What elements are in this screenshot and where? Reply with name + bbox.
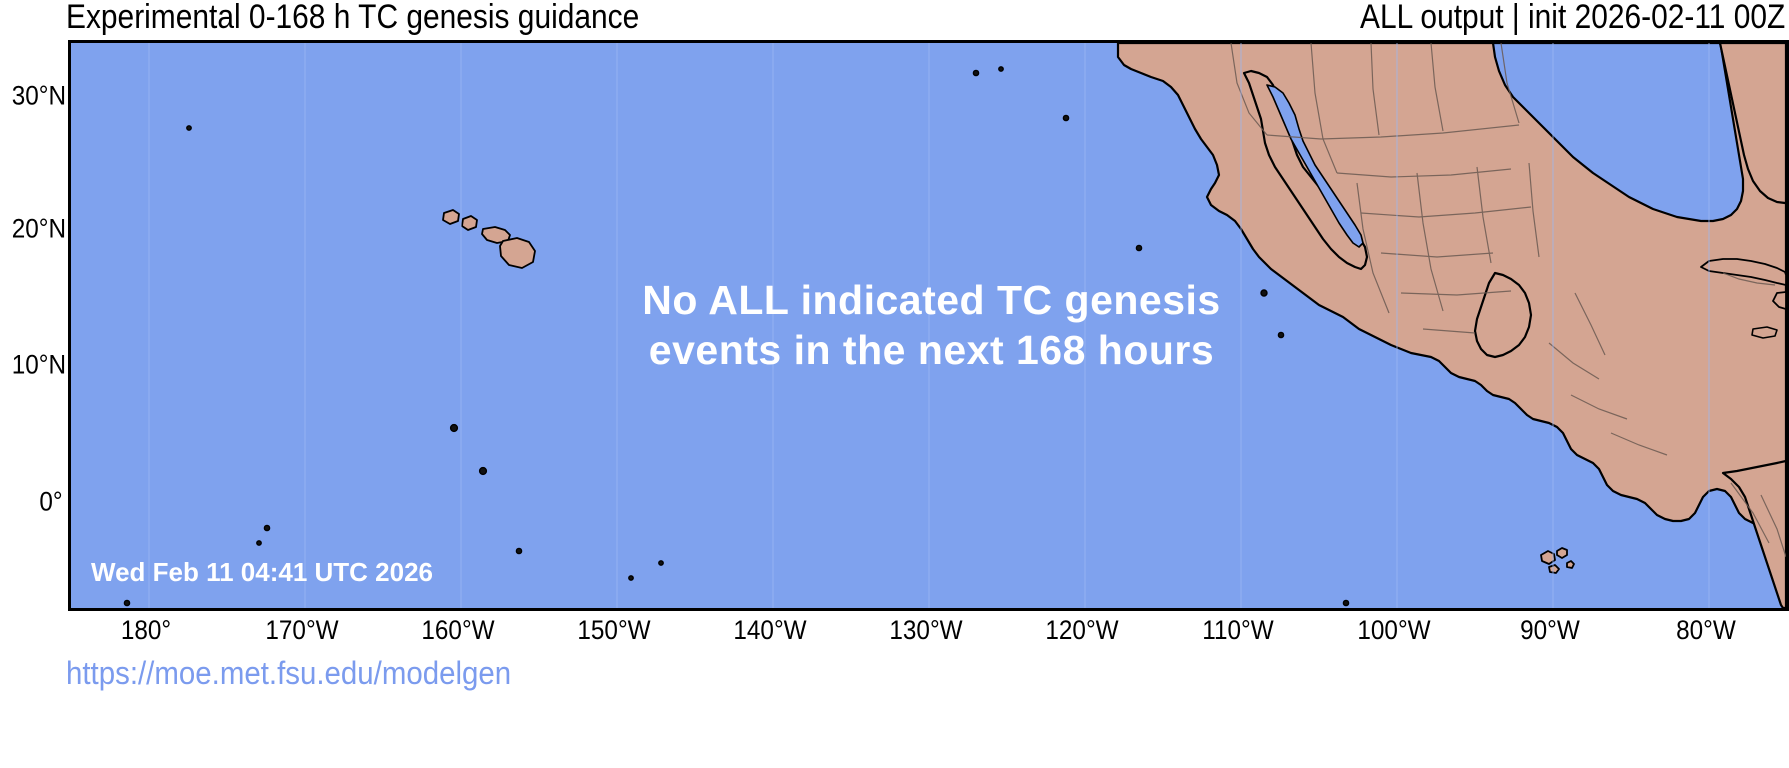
map-canvas — [71, 43, 1786, 608]
islet — [973, 70, 978, 75]
x-tick-120W: 120°W — [1045, 615, 1118, 646]
x-tick-130W: 130°W — [889, 615, 962, 646]
islet — [516, 548, 521, 553]
islet — [264, 525, 269, 530]
x-tick-150W: 150°W — [577, 615, 650, 646]
x-tick-180: 180° — [121, 615, 171, 646]
source-url-link[interactable]: https://moe.met.fsu.edu/modelgen — [66, 655, 511, 692]
islet — [629, 576, 633, 580]
oahu-island — [462, 216, 477, 230]
x-tick-90W: 90°W — [1520, 615, 1580, 646]
islet — [187, 126, 191, 130]
y-tick-0: 0° — [63, 487, 86, 518]
islet — [451, 425, 458, 432]
x-tick-170W: 170°W — [265, 615, 338, 646]
header-init-info: ALL output | init 2026-02-11 00Z — [1360, 0, 1785, 37]
islet — [257, 541, 261, 545]
islet — [1278, 332, 1283, 337]
x-tick-160W: 160°W — [421, 615, 494, 646]
islet — [659, 561, 663, 565]
islet — [1261, 290, 1267, 296]
islet — [124, 600, 129, 605]
page-title: Experimental 0-168 h TC genesis guidance — [66, 0, 639, 37]
header: Experimental 0-168 h TC genesis guidance… — [0, 0, 1789, 36]
islet — [1343, 600, 1348, 605]
x-tick-110W: 110°W — [1202, 615, 1273, 646]
y-tick-30N: 30°N — [66, 81, 120, 112]
jamaica-island — [1752, 327, 1777, 338]
islet — [999, 67, 1003, 71]
x-tick-80W: 80°W — [1676, 615, 1736, 646]
kauai-island — [443, 210, 459, 224]
x-tick-140W: 140°W — [733, 615, 806, 646]
x-tick-100W: 100°W — [1357, 615, 1430, 646]
islet — [1063, 115, 1068, 120]
islet — [1136, 245, 1141, 250]
y-tick-20N: 20°N — [66, 214, 120, 245]
map-plot-area[interactable]: No ALL indicated TC genesis events in th… — [68, 40, 1789, 611]
islet — [480, 468, 487, 475]
tc-genesis-map-page: Experimental 0-168 h TC genesis guidance… — [0, 0, 1789, 768]
y-tick-10N: 10°N — [66, 350, 120, 381]
